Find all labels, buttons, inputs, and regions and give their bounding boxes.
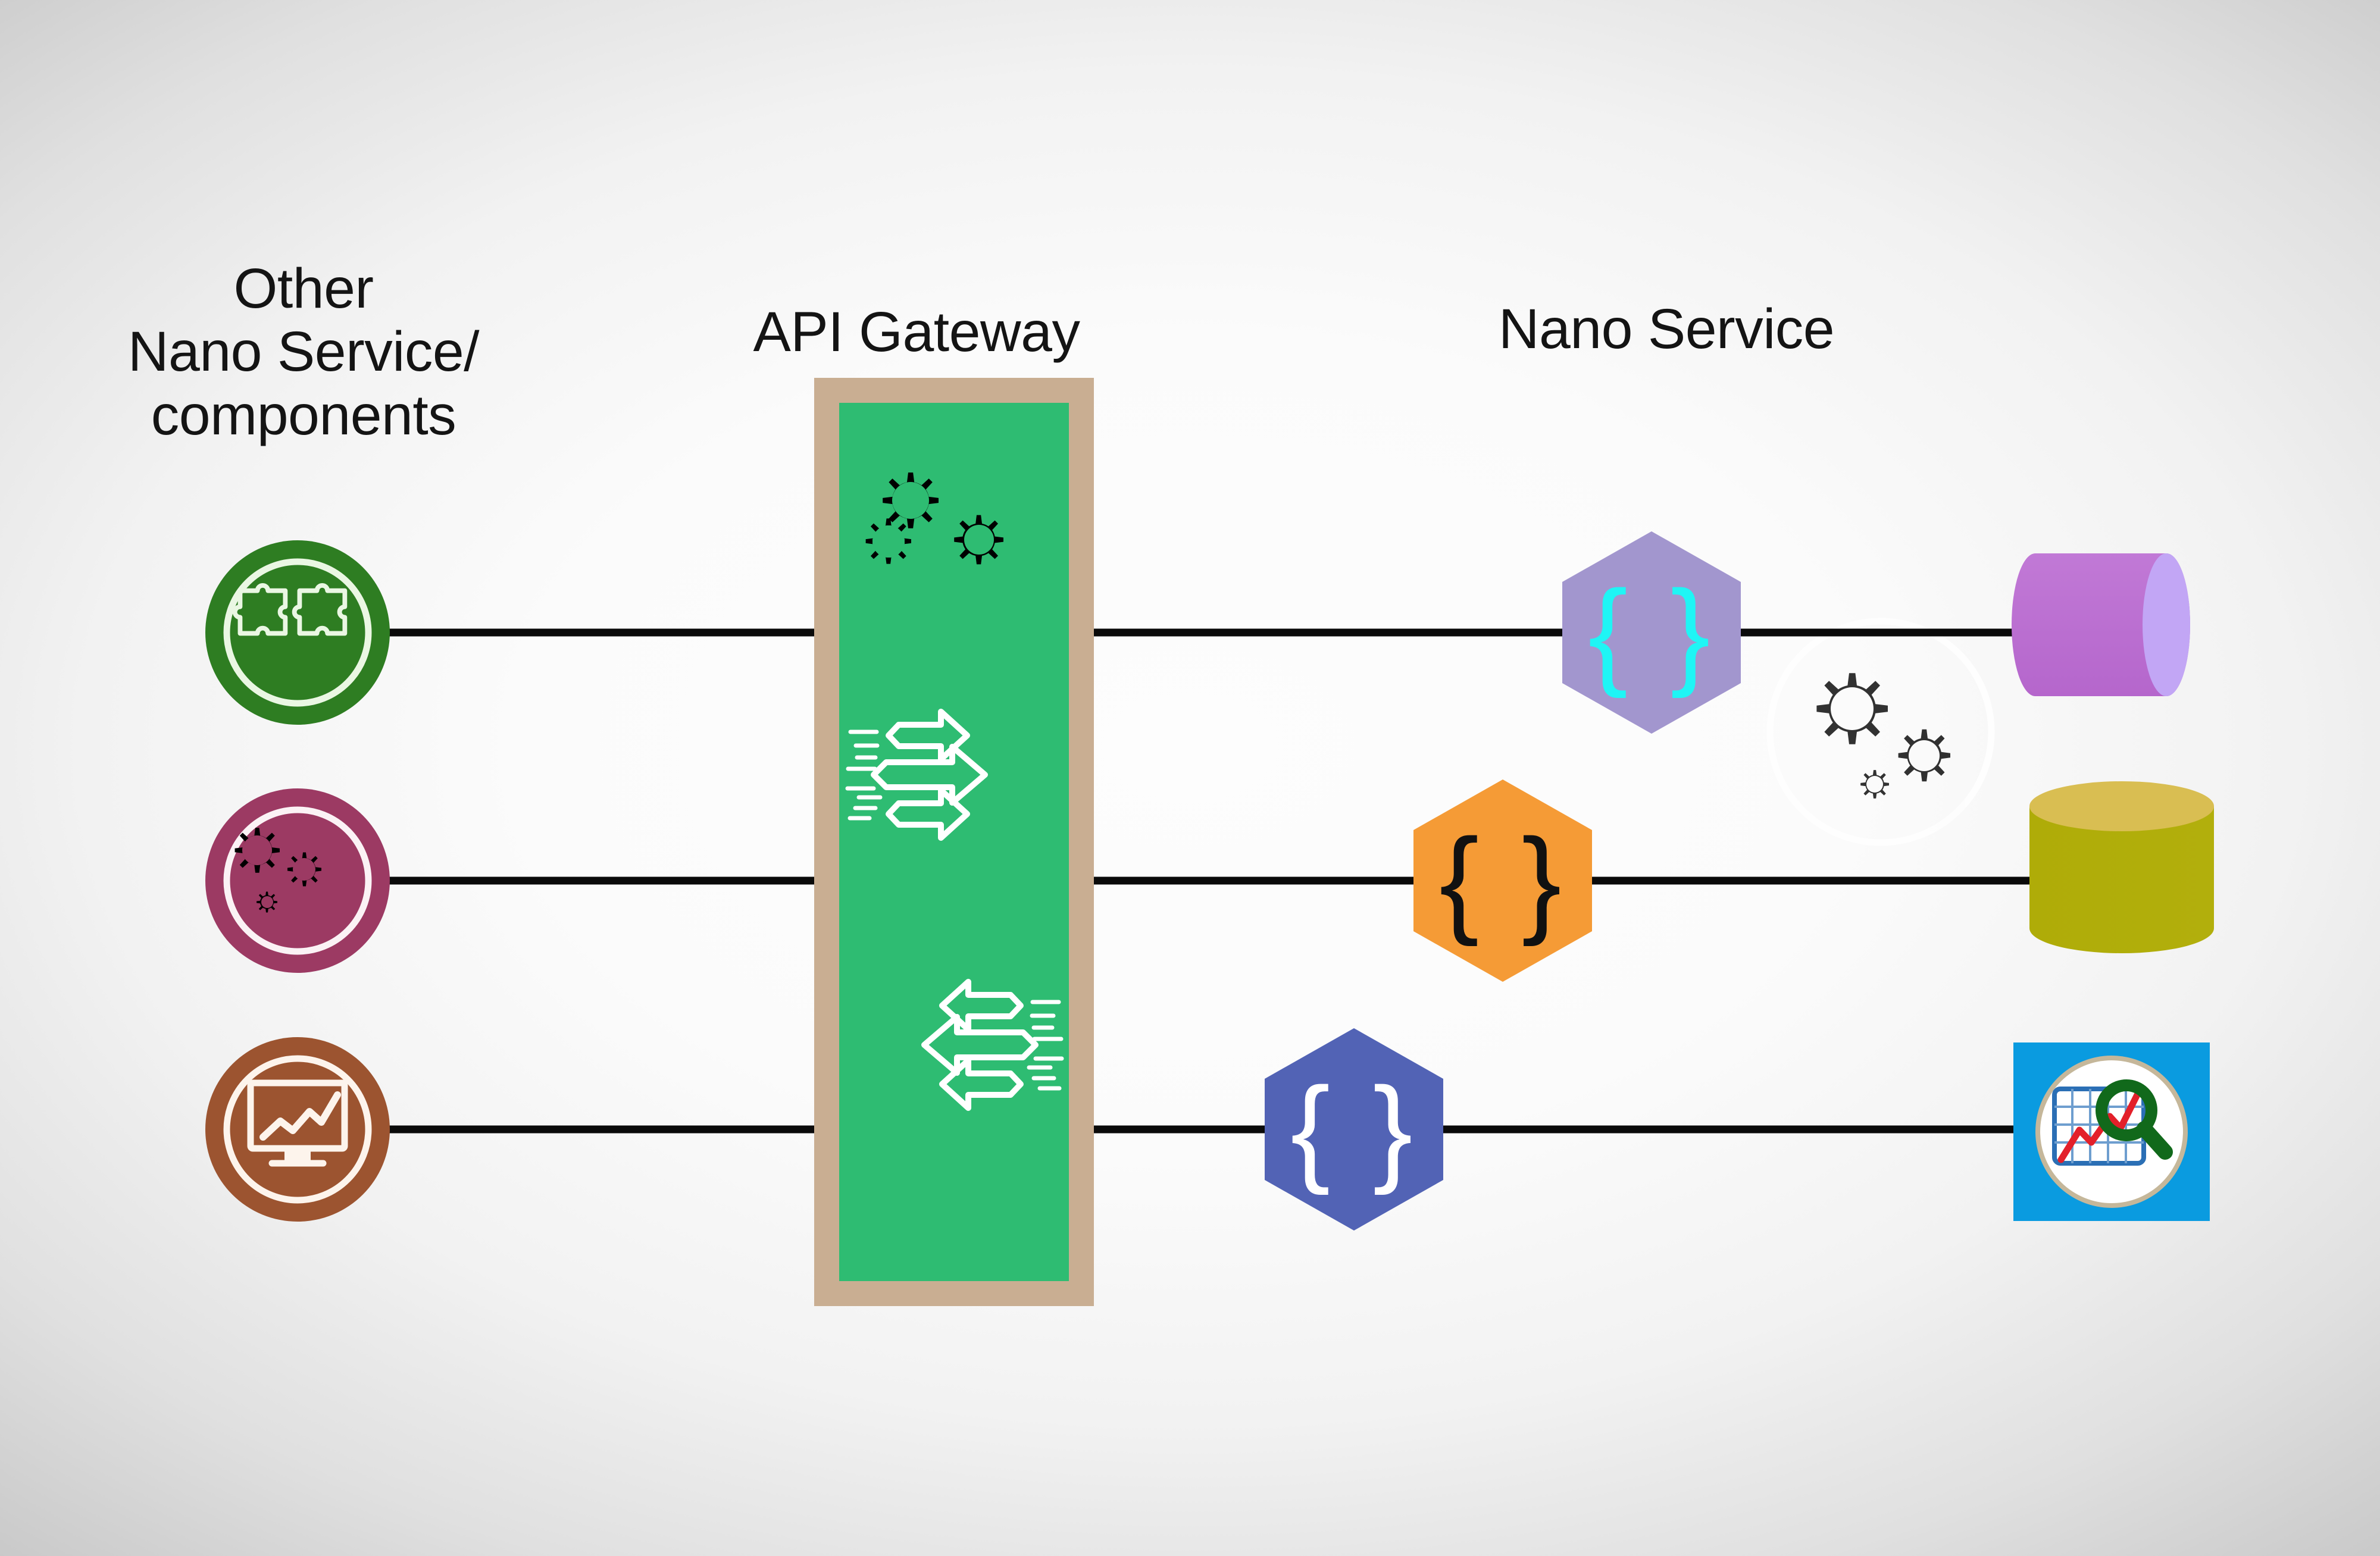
left-node-services[interactable] <box>205 788 390 973</box>
hex-node-blue[interactable]: { } <box>1265 1028 1443 1231</box>
column-label-nano-service: Nano Service <box>1369 298 1964 361</box>
left-node-components[interactable] <box>205 540 390 725</box>
column-label-other-nano-services: Other Nano Service/ components <box>89 257 518 447</box>
hex-node-orange[interactable]: { } <box>1413 779 1592 982</box>
connector-lines <box>386 633 2038 1129</box>
hex-orange-symbol: { } <box>1439 815 1566 947</box>
left-node-monitoring[interactable] <box>205 1037 390 1222</box>
analytics-tile[interactable] <box>2013 1042 2210 1221</box>
diagram-graphics: { } { } { } <box>0 0 2380 1556</box>
hex-blue-symbol: { } <box>1290 1063 1417 1196</box>
diagram-canvas: { } { } { } <box>0 0 2380 1556</box>
gears-circle-watermark-icon <box>1770 621 1991 843</box>
api-gateway-panel[interactable] <box>814 378 1094 1306</box>
database-purple[interactable] <box>2012 553 2190 696</box>
hex-node-purple[interactable]: { } <box>1562 531 1741 734</box>
hex-purple-symbol: { } <box>1588 566 1715 699</box>
database-yellow[interactable] <box>2029 781 2214 953</box>
column-label-api-gateway: API Gateway <box>732 300 1101 364</box>
